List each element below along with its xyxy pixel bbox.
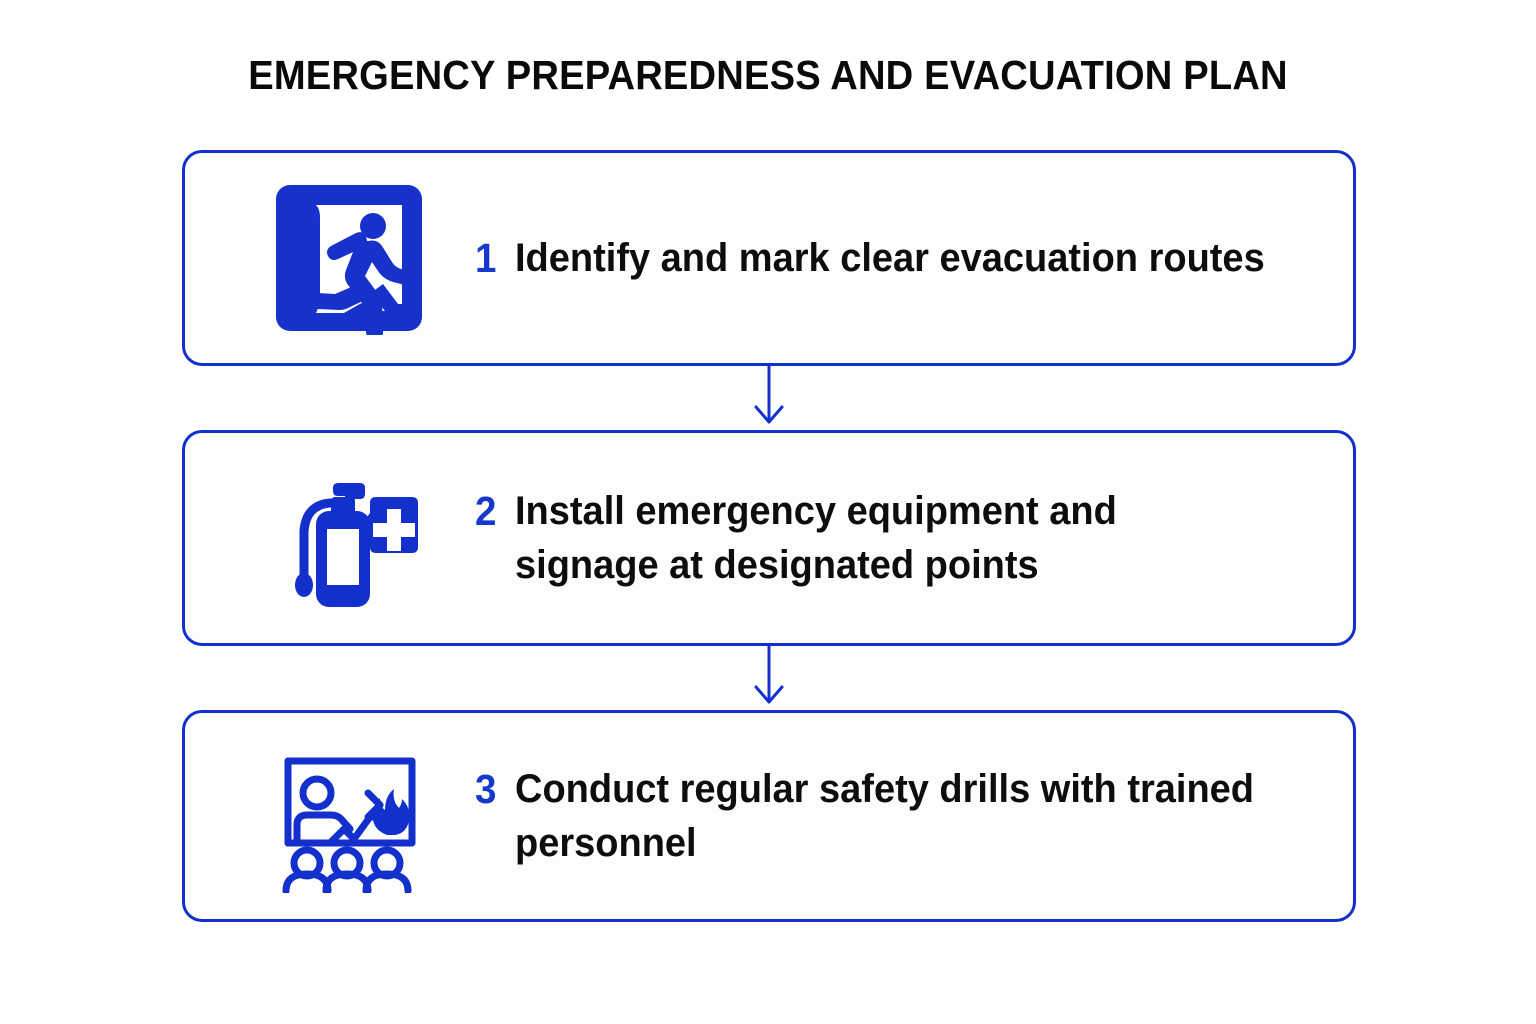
emergency-exit-running-person-icon [269,178,429,338]
step-text-1: Identify and mark clear evacuation route… [515,231,1265,285]
fire-extinguisher-first-aid-icon [269,458,429,618]
step-body-1: 1 Identify and mark clear evacuation rou… [475,231,1344,285]
flow-chart: 1 Identify and mark clear evacuation rou… [182,150,1356,922]
diagram-canvas: EMERGENCY PREPAREDNESS AND EVACUATION PL… [0,0,1536,1024]
step-card-3[interactable]: 3 Conduct regular safety drills with tra… [182,710,1356,922]
step-number-2: 2 [475,484,496,538]
step-card-1[interactable]: 1 Identify and mark clear evacuation rou… [182,150,1356,366]
step-number-1: 1 [475,231,496,285]
safety-drill-training-board-icon [269,736,429,896]
step-number-3: 3 [475,762,496,816]
step-body-2: 2 Install emergency equipment and signag… [475,484,1345,592]
arrow-down-step-2-to-3 [182,646,1356,710]
arrow-down-step-1-to-2 [182,366,1356,430]
step-text-2: Install emergency equipment and signage … [515,484,1266,592]
page-title: EMERGENCY PREPAREDNESS AND EVACUATION PL… [54,52,1482,99]
step-body-3: 3 Conduct regular safety drills with tra… [475,762,1345,870]
step-card-2[interactable]: 2 Install emergency equipment and signag… [182,430,1356,646]
step-text-3: Conduct regular safety drills with train… [515,762,1266,870]
